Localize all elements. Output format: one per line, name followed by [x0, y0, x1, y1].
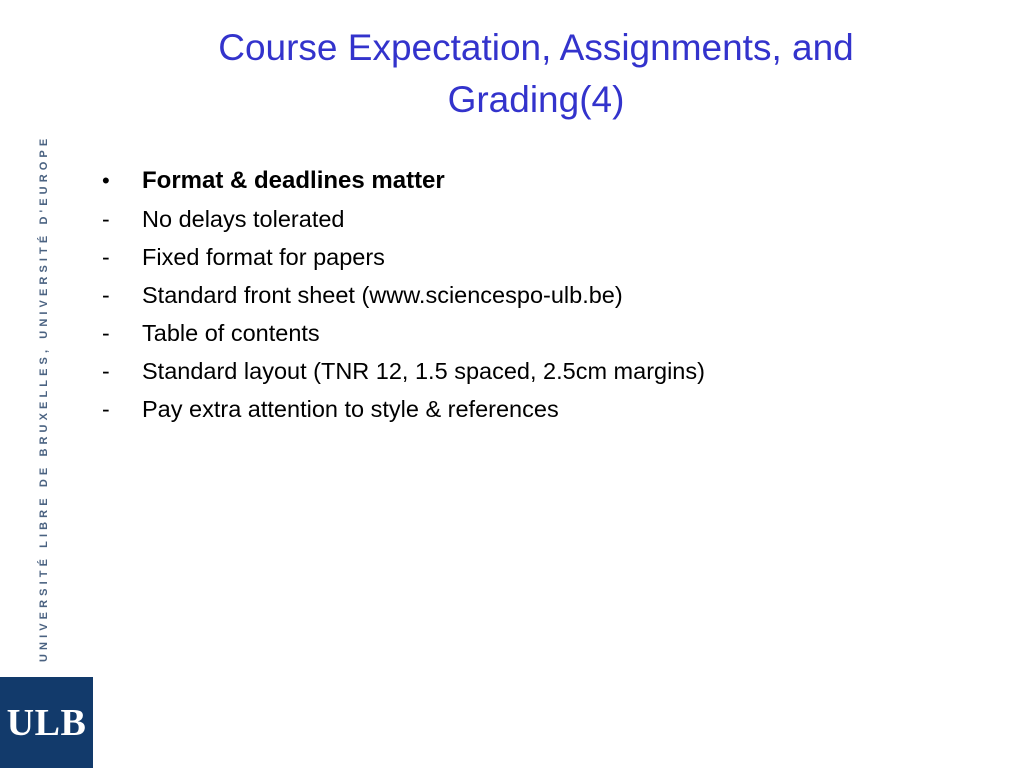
dash-icon: -: [100, 238, 142, 276]
list-item: - No delays tolerated: [100, 200, 980, 238]
list-item: - Pay extra attention to style & referen…: [100, 390, 980, 428]
dash-icon: -: [100, 390, 142, 428]
university-vertical-text: UNIVERSITÉ LIBRE DE BRUXELLES, UNIVERSIT…: [39, 135, 50, 662]
list-item-label: No delays tolerated: [142, 200, 344, 238]
slide-canvas: UNIVERSITÉ LIBRE DE BRUXELLES, UNIVERSIT…: [0, 0, 1024, 768]
page-title-line-2: Grading(4): [96, 74, 976, 126]
body-content: • Format & deadlines matter - No delays …: [100, 162, 980, 428]
page-title: Course Expectation, Assignments, and Gra…: [96, 22, 976, 126]
list-item-label: Table of contents: [142, 314, 320, 352]
list-item-label: Standard front sheet (www.sciencespo-ulb…: [142, 276, 623, 314]
list-item: - Table of contents: [100, 314, 980, 352]
dash-icon: -: [100, 314, 142, 352]
dash-icon: -: [100, 352, 142, 390]
list-item: - Standard layout (TNR 12, 1.5 spaced, 2…: [100, 352, 980, 390]
list-item-label: Pay extra attention to style & reference…: [142, 390, 559, 428]
list-item-label: Standard layout (TNR 12, 1.5 spaced, 2.5…: [142, 352, 705, 390]
list-item: • Format & deadlines matter: [100, 162, 980, 200]
list-item: - Fixed format for papers: [100, 238, 980, 276]
list-item-label: Fixed format for papers: [142, 238, 385, 276]
dash-icon: -: [100, 200, 142, 238]
ulb-logo: ULB: [0, 677, 93, 768]
bullet-icon: •: [100, 162, 142, 200]
page-title-line-1: Course Expectation, Assignments, and: [96, 22, 976, 74]
list-item: - Standard front sheet (www.sciencespo-u…: [100, 276, 980, 314]
brand-strip: UNIVERSITÉ LIBRE DE BRUXELLES, UNIVERSIT…: [0, 0, 96, 768]
ulb-logo-text: ULB: [7, 704, 87, 742]
dash-icon: -: [100, 276, 142, 314]
list-item-label: Format & deadlines matter: [142, 162, 445, 200]
